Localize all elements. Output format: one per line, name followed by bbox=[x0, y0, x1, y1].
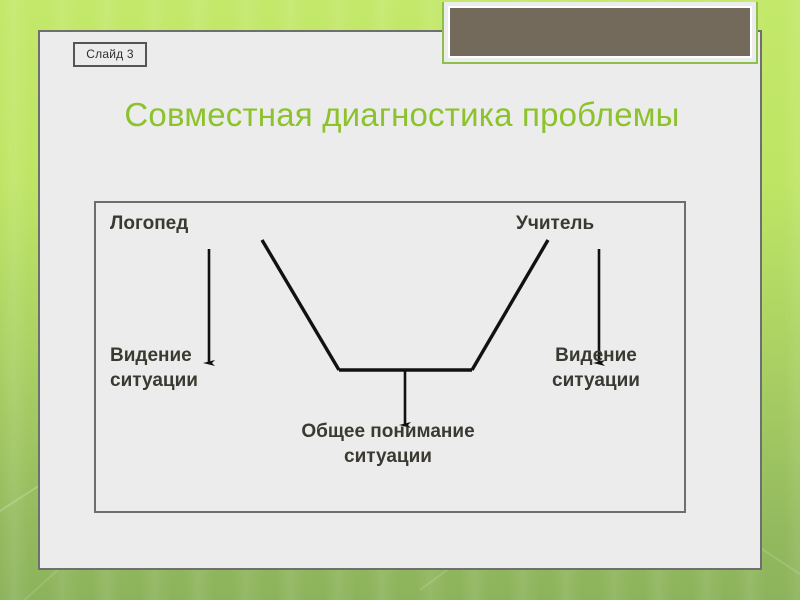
diagram-container: Логопед Учитель Видение ситуации Видение… bbox=[94, 201, 686, 513]
slide-frame: Слайд 3 Совместная диагностика проблемы bbox=[38, 30, 762, 570]
node-label-uchitel: Учитель bbox=[516, 211, 594, 236]
diagonal-logoped-to-merge bbox=[262, 240, 339, 370]
node-label-left-vision: Видение ситуации bbox=[110, 343, 198, 393]
slide-number-tag: Слайд 3 bbox=[73, 42, 147, 67]
node-label-shared-understanding: Общее понимание ситуации bbox=[222, 419, 554, 469]
page-title: Совместная диагностика проблемы bbox=[70, 94, 734, 135]
top-banner-frame bbox=[442, 2, 758, 64]
node-label-right-vision: Видение ситуации bbox=[516, 343, 676, 393]
node-label-logoped: Логопед bbox=[110, 211, 188, 236]
top-banner bbox=[448, 6, 752, 58]
slide-canvas: Слайд 3 Совместная диагностика проблемы bbox=[0, 0, 800, 600]
